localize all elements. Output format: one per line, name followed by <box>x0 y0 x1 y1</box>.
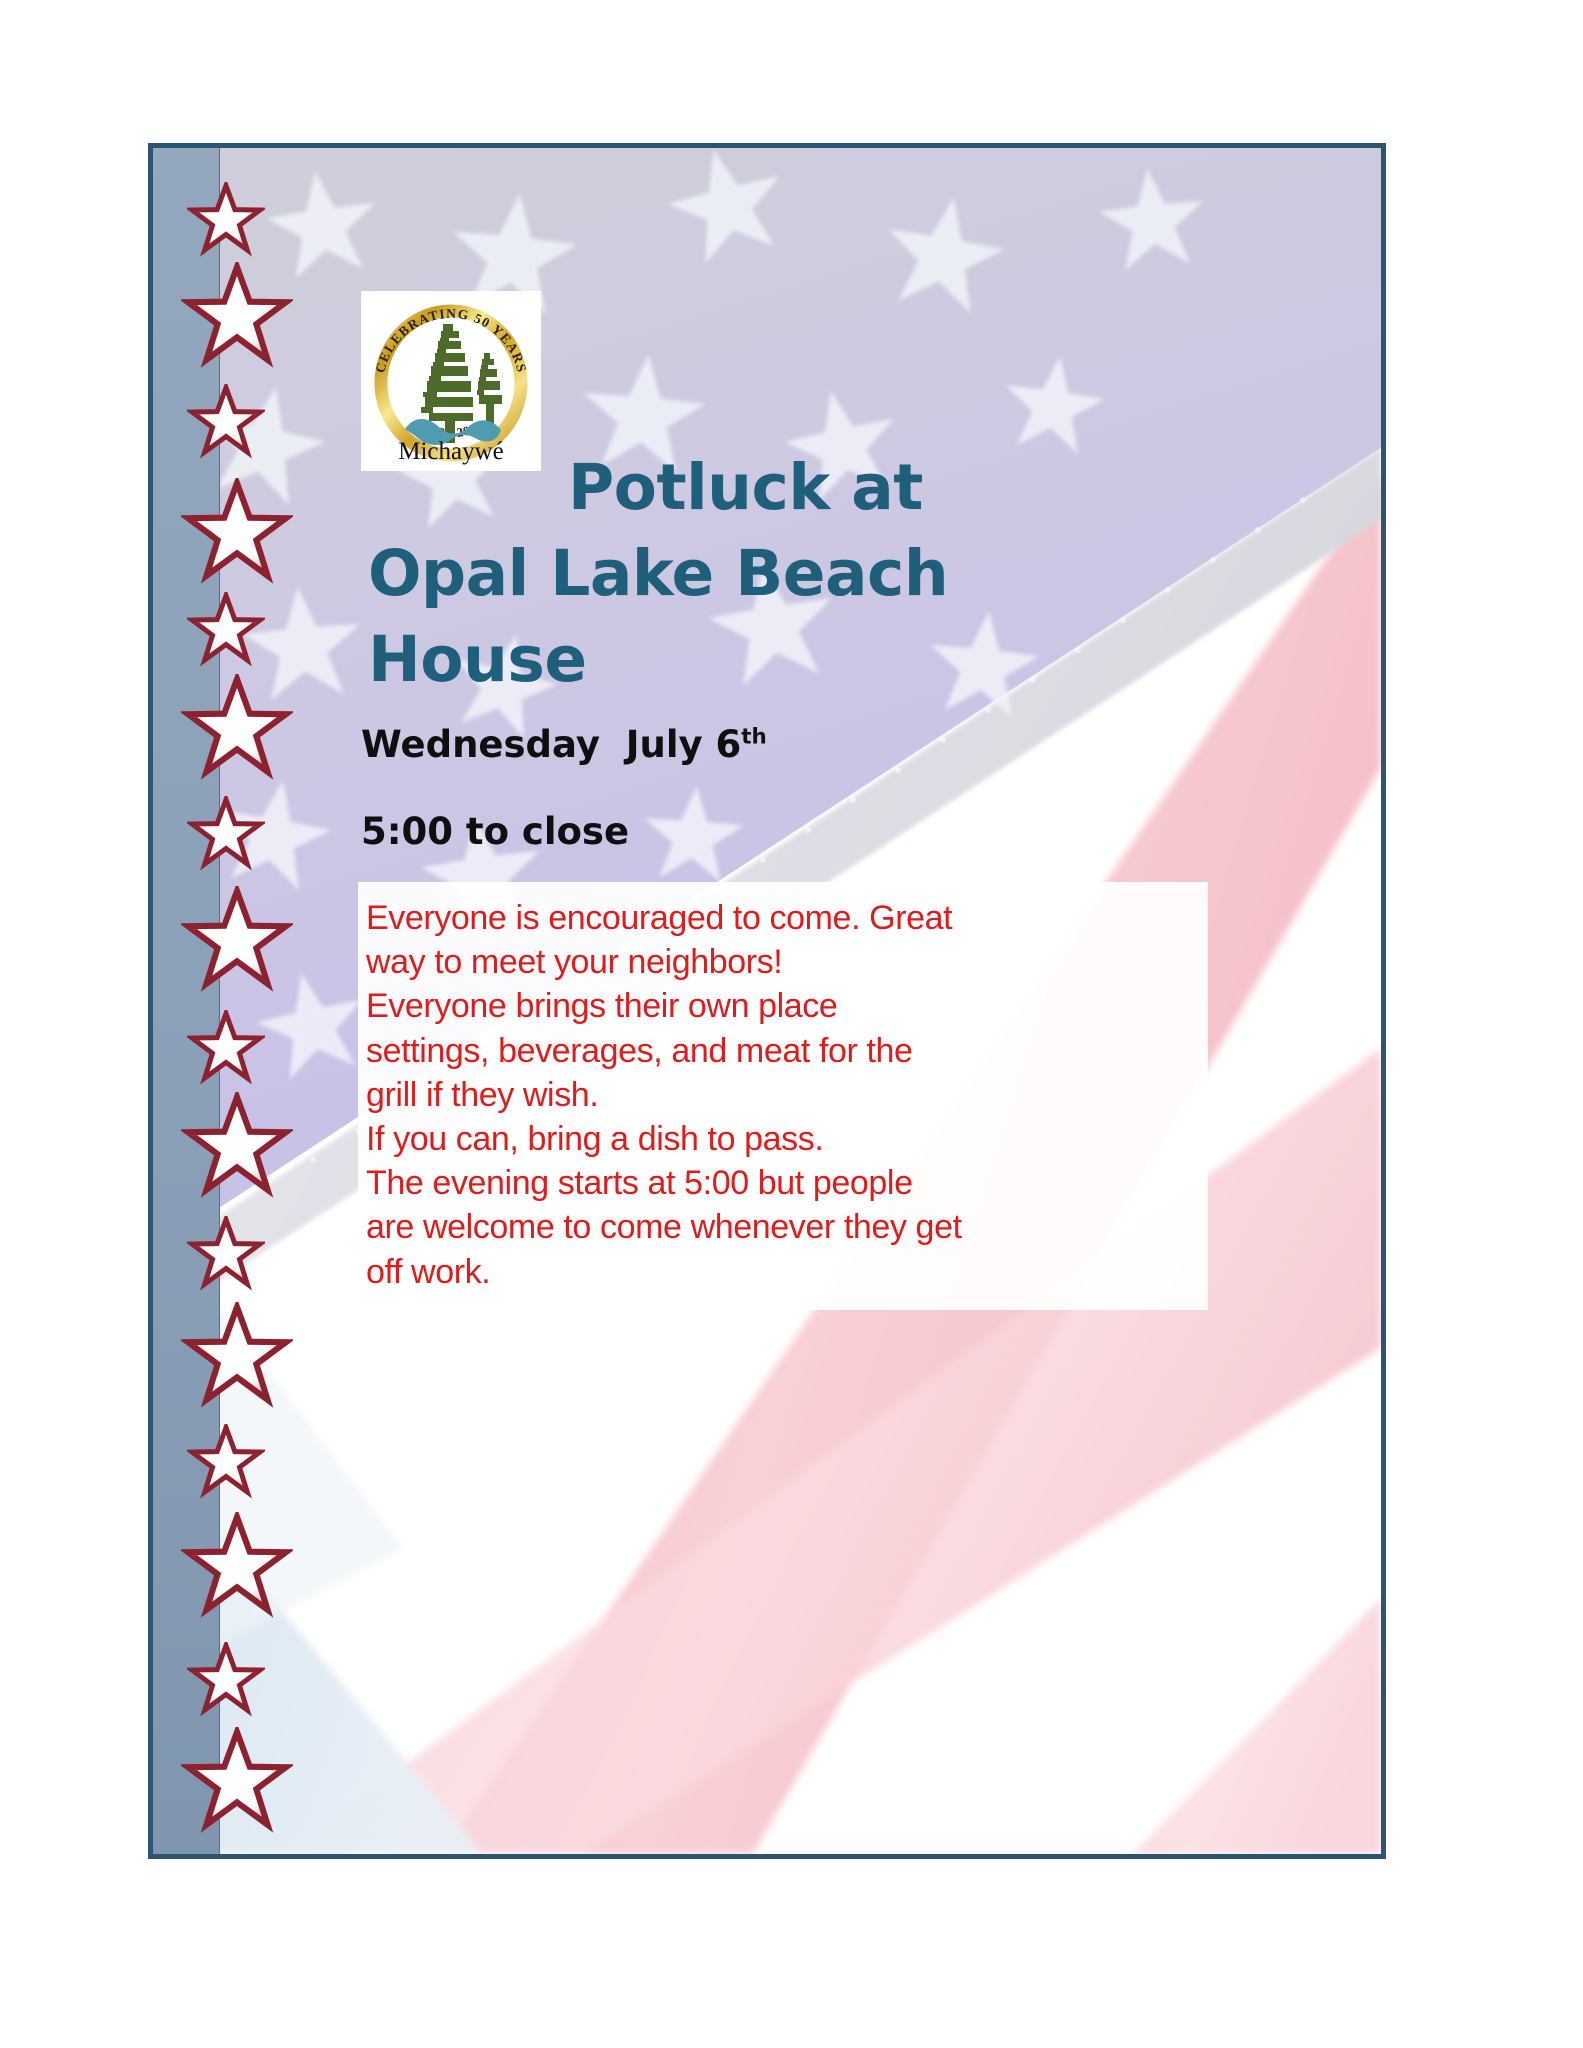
flyer-page: CELEBRATING 50 YEARS 1972 - 2022 <box>0 0 1583 2048</box>
event-details: Wednesday July 6th 5:00 to close <box>361 726 1121 850</box>
flyer-content: CELEBRATING 50 YEARS 1972 - 2022 <box>153 148 1381 1854</box>
title-line-1: Potluck at <box>568 451 923 524</box>
page-title: Potluck atOpal Lake BeachHouse <box>368 445 1168 702</box>
event-date: Wednesday July 6th <box>361 726 1121 763</box>
body-line: grill if they wish. <box>366 1073 1192 1117</box>
body-line: Everyone brings their own place <box>366 984 1192 1028</box>
body-text: Everyone is encouraged to come. Great wa… <box>366 896 1192 1294</box>
event-time: 5:00 to close <box>361 813 1121 850</box>
body-line: Everyone is encouraged to come. Great <box>366 896 1192 940</box>
body-line: are welcome to come whenever they get <box>366 1205 1192 1249</box>
body-line: The evening starts at 5:00 but people <box>366 1161 1192 1205</box>
flyer-frame: CELEBRATING 50 YEARS 1972 - 2022 <box>148 143 1386 1859</box>
body-text-panel: Everyone is encouraged to come. Great wa… <box>358 882 1208 1310</box>
michaywe-logo: CELEBRATING 50 YEARS 1972 - 2022 <box>361 291 541 471</box>
body-line: way to meet your neighbors! <box>366 940 1192 984</box>
body-line: If you can, bring a dish to pass. <box>366 1117 1192 1161</box>
body-line: settings, beverages, and meat for the <box>366 1029 1192 1073</box>
event-date-text: Wednesday July 6 <box>361 723 741 766</box>
title-line-3: House <box>368 617 1168 703</box>
title-line-2: Opal Lake Beach <box>368 531 1168 617</box>
body-line: off work. <box>366 1250 1192 1294</box>
event-date-ordinal: th <box>741 725 767 750</box>
